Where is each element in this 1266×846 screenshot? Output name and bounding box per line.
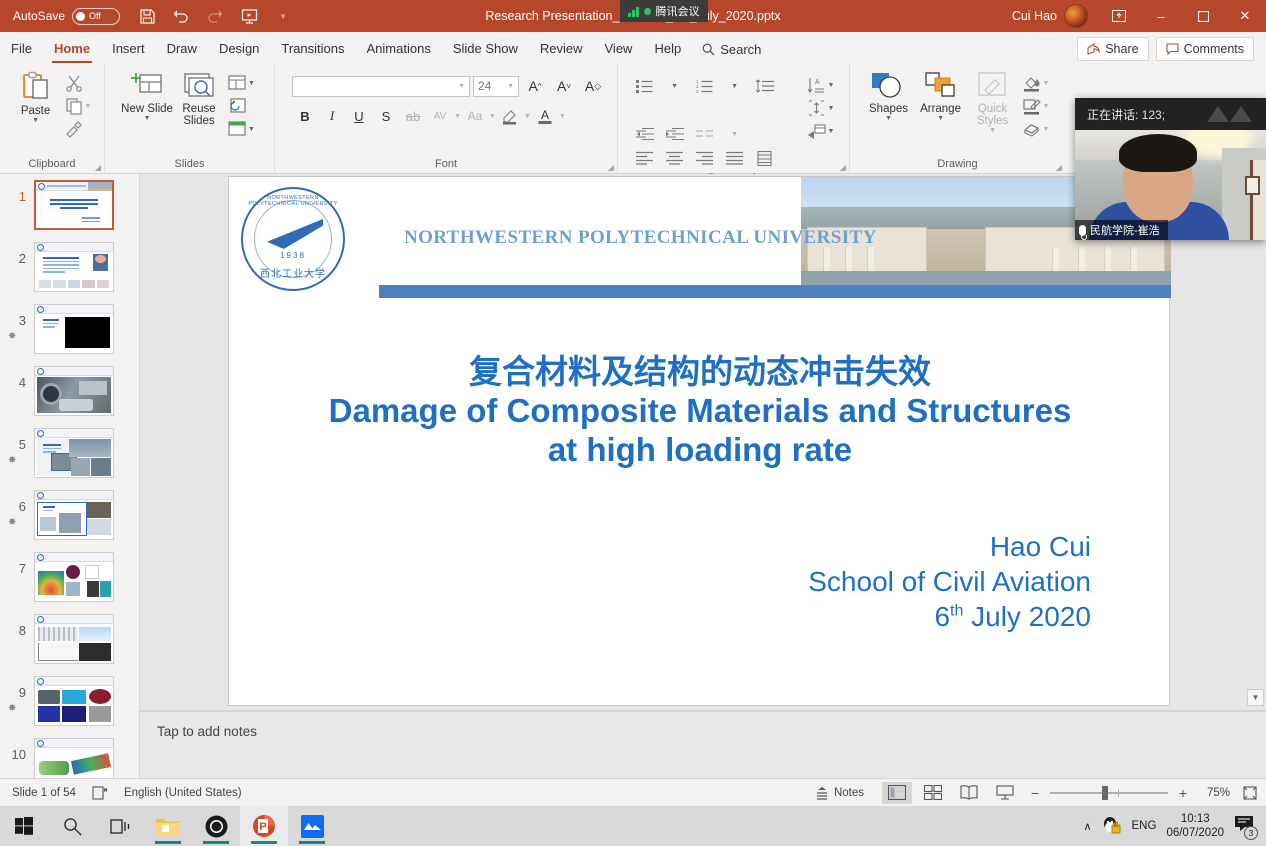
zoom-out-button[interactable]: − [1026,785,1044,801]
powerpoint-icon[interactable]: P [240,806,288,846]
participant-hair [1119,134,1197,172]
bullets-caret[interactable]: ▼ [671,83,678,90]
font-name-caret[interactable]: ▼ [458,83,465,90]
clock-date: 06/07/2020 [1166,826,1224,840]
align-left-button[interactable] [636,151,653,165]
language-code[interactable]: ENG [1132,820,1157,832]
thumbnail-image [34,738,114,778]
align-text-caret[interactable]: ▼ [828,105,835,112]
thumb-banner [35,677,113,686]
cut-button[interactable] [62,72,95,94]
undo-icon[interactable] [164,2,198,30]
redo-icon[interactable] [198,2,232,30]
share-button[interactable]: Share [1077,37,1148,61]
powerpoint-icon: P [252,814,276,838]
increase-font-size-button[interactable]: A^ [522,74,548,98]
thumb-banner [35,305,113,314]
file-explorer-icon[interactable] [144,806,192,846]
ribbon-tabs: File Home Insert Draw Design Transitions… [0,32,1266,64]
autosave-control[interactable]: AutoSave Off [13,8,120,25]
clock[interactable]: 10:13 06/07/2020 [1166,812,1224,840]
windows-taskbar: P ∧ ENG 10:13 06/07/2020 3 [0,806,1266,846]
thumbnail-slide-10[interactable]: 10 [0,738,139,778]
thumbnail-slide-3[interactable]: 3 ✸ [0,304,139,366]
show-hidden-icons-button[interactable]: ∧ [1083,820,1091,833]
thumbnail-slide-7[interactable]: 7 [0,552,139,614]
zoom-slider[interactable] [1050,786,1168,800]
drawing-dialog-launcher[interactable]: ◢ [1056,163,1062,172]
ribbon-group-slides: New Slide ▼ Reuse Slides ▼ [105,64,275,173]
quick-styles-caret[interactable]: ▼ [989,127,996,134]
thumb-logo-icon [37,554,44,561]
reuse-slides-button[interactable]: Reuse Slides [173,68,225,127]
thumbnail-slide-5[interactable]: 5 ✸ [0,428,139,490]
titlebar-right: Cui Hao – ✕ [1012,0,1266,32]
thumb-banner [35,243,113,252]
arrange-label: Arrange [920,103,961,115]
thumbnail-number: 3 [6,304,26,328]
thumbnail-image [34,242,114,292]
zoom-track-line [1050,792,1168,794]
smartart-caret[interactable]: ▼ [828,128,835,135]
thumbnail-image [34,180,114,230]
layout-icon [228,75,246,91]
browser-icon [205,815,228,838]
meeting-watermark-icon [1207,106,1252,122]
shape-fill-icon [1022,75,1041,92]
font-color-button[interactable]: A [532,104,558,128]
notes-placeholder: Tap to add notes [157,724,257,739]
copy-dropdown-caret[interactable]: ▼ [85,103,92,110]
shapes-caret[interactable]: ▼ [885,115,892,122]
thumb-logo-icon [37,492,44,499]
italic-button[interactable]: I [319,104,345,128]
shape-outline-button[interactable]: ▼ [1019,95,1053,117]
ribbon-group-drawing: Shapes ▼ Arrange ▼ Quick Styles ▼ ▼ [850,64,1065,173]
reset-button[interactable] [225,95,258,117]
author-affiliation: School of Civil Aviation [571,564,1091,599]
date-ordinal: th [950,603,963,620]
font-color-icon: A [536,107,554,125]
participant-name-badge: 民航学院-崔浩 [1075,220,1168,240]
columns-caret[interactable]: ▼ [731,131,738,138]
participant-video[interactable]: 民航学院-崔浩 [1075,130,1266,240]
thumb-logo-icon [37,306,44,313]
tencent-meeting-icon [301,815,324,838]
line-spacing-button[interactable] [755,79,775,93]
bullets-button[interactable] [636,79,653,93]
tab-slide-show[interactable]: Slide Show [442,34,529,64]
highlighter-icon [501,107,519,125]
align-text-button[interactable]: ▼ [804,97,838,119]
tab-animations[interactable]: Animations [356,34,442,64]
zoom-slider-handle[interactable] [1102,786,1108,800]
character-spacing-caret[interactable]: ▼ [454,113,461,120]
share-icon [1087,43,1100,55]
zoom-in-button[interactable]: + [1174,785,1192,801]
animation-star-icon: ✸ [8,455,16,466]
reset-icon [228,98,246,114]
tencent-meeting-icon[interactable] [288,806,336,846]
comments-label: Comments [1184,42,1244,56]
search-box[interactable]: Search [692,34,771,64]
thumbnail-image [34,552,114,602]
thumbnail-number: 6 [6,490,26,514]
title-chinese: 复合材料及结构的动态冲击失效 [269,353,1131,392]
thumbnail-slide-2[interactable]: 2 [0,242,139,304]
thumb-banner [35,367,113,376]
reuse-slides-icon [183,71,215,101]
character-spacing-button[interactable]: AV [427,104,453,128]
fountain-pool [801,271,1171,285]
share-label: Share [1105,42,1138,56]
tab-insert[interactable]: Insert [101,34,156,64]
paste-label: Paste [21,105,50,117]
account-name[interactable]: Cui Hao [1012,9,1057,23]
customize-quick-access-icon[interactable]: ▼ [266,2,300,30]
thumb-logo-icon [37,430,44,437]
logo-chinese-name: 西北工业大学 [243,265,343,280]
chrome-icon[interactable] [192,806,240,846]
language-indicator[interactable]: English (United States) [124,787,242,799]
thumb-banner [35,429,113,438]
thumbnail-number: 5 [6,428,26,452]
text-shadow-button[interactable]: S [373,104,399,128]
paste-button[interactable]: Paste ▼ [10,68,62,124]
layout-button[interactable]: ▼ [225,72,258,94]
banner-accent-bar [379,285,1171,298]
scroll-down-button[interactable]: ▼ [1247,689,1264,706]
clipboard-dialog-launcher[interactable]: ◢ [95,163,101,172]
numbering-caret[interactable]: ▼ [731,83,738,90]
tab-view[interactable]: View [594,34,644,64]
tab-review[interactable]: Review [529,34,594,64]
restore-button[interactable] [1182,0,1224,32]
taskbar-search-icon[interactable] [48,806,96,846]
title-english-line2: at high loading rate [269,431,1131,470]
tab-help[interactable]: Help [643,34,692,64]
animation-star-icon: ✸ [8,331,16,342]
notes-pane[interactable]: Tap to add notes [140,711,1266,778]
clipboard-small-buttons: ▼ [62,68,95,140]
current-slide[interactable]: NORTHWESTERN POLYTECHNICAL UNIVERSITY NO… [228,176,1170,706]
author-block[interactable]: Hao Cui School of Civil Aviation 6th Jul… [571,529,1091,634]
slide-title-block[interactable]: 复合材料及结构的动态冲击失效 Damage of Composite Mater… [269,353,1131,470]
tab-draw[interactable]: Draw [156,34,208,64]
search-label: Search [720,42,761,57]
numbering-button[interactable]: 123 [696,79,713,93]
speaking-status: 正在讲话: 123; [1087,106,1165,123]
ribbon-group-font: ▼ 24 ▼ A^ A˅ A◇ B I U S ab AV [275,64,618,173]
meeting-app-name: 腾讯会议 [656,3,700,19]
copy-button[interactable]: ▼ [62,95,95,117]
thumbnail-slide-4[interactable]: 4 [0,366,139,428]
align-right-button[interactable] [696,151,713,165]
autosave-state: Off [89,11,101,21]
status-bar: Slide 1 of 54 ✖ English (United States) … [0,778,1266,806]
normal-view-icon [888,785,906,800]
decrease-indent-button[interactable] [636,127,654,141]
thumb-logo-icon [38,183,45,190]
thumbnail-image [34,304,114,354]
font-size-value: 24 [478,79,491,93]
thumbnail-image [34,676,114,726]
minimize-button[interactable]: – [1140,0,1182,32]
tabs-right-actions: Share Comments [1077,34,1266,64]
shape-outline-caret[interactable]: ▼ [1043,103,1050,110]
thumb-logo-icon [37,740,44,747]
thumbnail-number: 2 [6,242,26,266]
thumbnail-slide-9[interactable]: 9 ✸ [0,676,139,738]
thumb-logo-icon [37,244,44,251]
quick-styles-label: Quick Styles [967,103,1019,127]
thumb-logo-icon [37,678,44,685]
slides-small-buttons: ▼ ▼ [225,68,258,140]
ribbon-display-options-icon[interactable] [1098,0,1140,32]
section-button[interactable]: ▼ [225,118,258,140]
windows-logo-icon [15,817,33,835]
svg-text:✖: ✖ [103,787,108,794]
fit-slide-icon [1242,785,1258,801]
font-name-input[interactable]: ▼ [292,76,470,97]
paragraph-right-buttons: A ▼ ▼ ▼ [804,70,838,142]
presentation-date: 6th July 2020 [571,599,1091,634]
folder-icon [155,816,181,837]
status-right: Notes − + 75% [815,782,1266,804]
date-day: 6 [934,601,950,632]
bold-button[interactable]: B [292,104,318,128]
paragraph-button-grid: ▼ 123 ▼ [630,70,780,170]
arrange-button[interactable]: Arrange ▼ [915,68,967,122]
slide-counter[interactable]: Slide 1 of 54 [12,787,76,799]
text-highlight-color-button[interactable] [497,104,523,128]
thumbnail-image [34,614,114,664]
font-size-input[interactable]: 24 ▼ [473,76,519,97]
layout-caret[interactable]: ▼ [248,80,255,87]
shape-effects-button[interactable]: ▼ [1019,118,1053,140]
search-icon [702,43,715,56]
section-caret[interactable]: ▼ [248,126,255,133]
meeting-header: 正在讲话: 123; [1075,98,1266,130]
highlight-caret[interactable]: ▼ [524,113,531,120]
slides-group-label: Slides [175,156,205,173]
animation-star-icon: ✸ [8,517,16,528]
decrease-font-size-button[interactable]: A˅ [551,74,577,98]
signal-bars-icon [628,6,639,17]
font-row-bottom: B I U S ab AV ▼ Aa ▼ ▼ A ▼ [292,98,566,128]
thumbnail-number: 7 [6,552,26,576]
quick-styles-button[interactable]: Quick Styles ▼ [967,68,1019,134]
change-case-caret[interactable]: ▼ [489,113,496,120]
start-presentation-icon[interactable] [232,2,266,30]
paragraph-dialog-launcher[interactable]: ◢ [840,163,846,172]
paste-icon [21,71,51,103]
format-painter-icon [65,120,83,138]
quick-styles-icon [976,71,1010,101]
thumb-logo-icon [37,616,44,623]
notes-icon [815,786,829,800]
view-slide-sorter-button[interactable] [918,782,948,804]
text-direction-button[interactable]: A ▼ [804,74,838,96]
date-rest: July 2020 [963,601,1091,632]
logo-year: 1938 [243,251,343,260]
zoom-default-tick [1118,789,1119,797]
drawing-small-buttons: ▼ ▼ ▼ [1019,68,1053,140]
powerpoint-window: AutoSave Off ▼ Research Presentation_Sem… [0,0,1266,846]
shapes-icon [869,71,909,101]
ime-icon[interactable] [1102,816,1122,836]
clear-formatting-button[interactable]: A◇ [580,74,606,98]
slide-sorter-icon [924,785,942,800]
tab-design[interactable]: Design [208,34,270,64]
thumb-banner [35,739,113,748]
thumbnail-number: 10 [6,738,26,762]
increase-indent-button[interactable] [666,127,684,141]
thumbnail-image [34,490,114,540]
video-picture-frame [1245,176,1260,195]
thumbnail-number: 9 [6,676,26,700]
text-direction-caret[interactable]: ▼ [828,82,835,89]
thumbnail-slide-1[interactable]: 1 [0,180,139,242]
save-icon[interactable] [130,2,164,30]
shape-outline-icon [1022,98,1041,115]
author-name: Hao Cui [571,529,1091,564]
thumbnail-number: 8 [6,614,26,638]
task-view-icon[interactable] [96,806,144,846]
convert-to-smartart-button[interactable]: ▼ [804,120,838,142]
justify-button[interactable] [726,151,743,165]
participant-name: 民航学院-崔浩 [1090,222,1160,238]
fit-to-window-button[interactable] [1242,785,1258,801]
new-slide-caret[interactable]: ▼ [144,115,151,122]
copy-icon [65,97,83,115]
zoom-level-label[interactable]: 75% [1198,787,1230,799]
clock-time: 10:13 [1166,812,1224,826]
search-icon [63,817,82,836]
animation-star-icon: ✸ [8,703,16,714]
video-door [1250,160,1266,240]
title-english-line1: Damage of Composite Materials and Struct… [269,392,1131,431]
section-icon [228,121,246,137]
thumbnail-image [34,428,114,478]
scissors-icon [65,74,83,92]
svg-text:A: A [541,108,549,122]
font-group-label: Font [435,156,457,173]
status-left: Slide 1 of 54 ✖ English (United States) [0,786,242,800]
thumb-banner [35,553,113,562]
tab-home[interactable]: Home [43,34,101,64]
new-slide-button[interactable]: New Slide ▼ [121,68,173,122]
thumb-logo-icon [37,368,44,375]
slide-thumbnail-pane[interactable]: 1 2 [0,174,140,778]
view-reading-button[interactable] [954,782,984,804]
notes-toggle-button[interactable]: Notes [815,786,864,800]
autosave-label: AutoSave [13,9,65,23]
accessibility-checker-icon[interactable]: ✖ [92,786,108,800]
shape-effects-caret[interactable]: ▼ [1043,126,1050,133]
task-view-icon [110,818,130,835]
svg-text:P: P [259,821,266,833]
view-slideshow-button[interactable] [990,782,1020,804]
microphone-icon [1079,225,1086,236]
tab-transitions[interactable]: Transitions [270,34,355,64]
shapes-button[interactable]: Shapes ▼ [863,68,915,122]
slide-show-icon [996,785,1014,800]
notes-label: Notes [834,787,864,799]
thumbnail-number: 4 [6,366,26,390]
ribbon-group-clipboard: Paste ▼ ▼ Clipboard ◢ [0,64,105,173]
format-painter-button[interactable] [62,118,95,140]
reading-view-icon [960,785,978,800]
arrange-icon [921,71,961,101]
notification-badge: 3 [1244,826,1258,840]
thumbnail-slide-6[interactable]: 6 ✸ [0,490,139,552]
thumb-banner [36,182,112,191]
strikethrough-button[interactable]: ab [400,104,426,128]
shape-effects-icon [1022,121,1041,138]
comments-button[interactable]: Comments [1156,37,1254,61]
tab-file[interactable]: File [0,34,43,64]
font-color-caret[interactable]: ▼ [559,113,566,120]
avatar[interactable] [1064,4,1088,28]
autosave-knob [76,12,85,21]
thumb-banner [35,615,113,624]
meeting-titlebar-badge[interactable]: 腾讯会议 [620,0,708,22]
comment-icon [1166,43,1179,55]
new-slide-label: New Slide [121,103,173,115]
svg-text:A: A [815,79,820,86]
university-logo: NORTHWESTERN POLYTECHNICAL UNIVERSITY 19… [241,187,345,291]
font-row-top: ▼ 24 ▼ A^ A˅ A◇ [292,68,606,98]
add-remove-columns-button[interactable] [756,151,773,166]
logo-arc-text: NORTHWESTERN POLYTECHNICAL UNIVERSITY [243,195,343,207]
notification-center-button[interactable]: 3 [1234,815,1256,837]
ribbon-group-paragraph: ▼ 123 ▼ [618,64,850,173]
thumbnail-number: 1 [6,180,26,204]
shape-fill-button[interactable]: ▼ [1019,72,1053,94]
svg-text:3: 3 [696,89,699,93]
slide-canvas-area: NORTHWESTERN POLYTECHNICAL UNIVERSITY NO… [140,174,1266,711]
university-name: NORTHWESTERN POLYTECHNICAL UNIVERSITY [404,227,877,249]
meeting-status-dot [644,8,651,15]
autosave-toggle[interactable]: Off [72,8,120,25]
columns-button[interactable] [696,127,713,141]
clipboard-group-label: Clipboard [28,156,75,173]
slide-header-banner: NORTHWESTERN POLYTECHNICAL UNIVERSITY NO… [229,177,1171,295]
start-button[interactable] [0,806,48,846]
thumb-banner [35,491,113,500]
underline-button[interactable]: U [346,104,372,128]
drawing-group-label: Drawing [937,156,977,173]
system-tray: ∧ ENG 10:13 06/07/2020 3 [1083,812,1266,840]
reuse-slides-label: Reuse Slides [173,103,225,127]
new-slide-icon [131,71,163,101]
paste-dropdown-caret[interactable]: ▼ [32,117,39,124]
thumbnail-slide-8[interactable]: 8 [0,614,139,676]
tencent-meeting-overlay[interactable]: 正在讲话: 123; 民航学院-崔浩 [1075,98,1266,240]
close-button[interactable]: ✕ [1224,0,1266,32]
font-dialog-launcher[interactable]: ◢ [608,163,614,172]
arrange-caret[interactable]: ▼ [937,115,944,122]
shape-fill-caret[interactable]: ▼ [1043,80,1050,87]
change-case-button[interactable]: Aa [462,104,488,128]
view-normal-button[interactable] [882,782,912,804]
align-center-button[interactable] [666,151,683,165]
shapes-label: Shapes [869,103,908,115]
thumbnail-image [34,366,114,416]
font-size-caret[interactable]: ▼ [507,83,514,90]
